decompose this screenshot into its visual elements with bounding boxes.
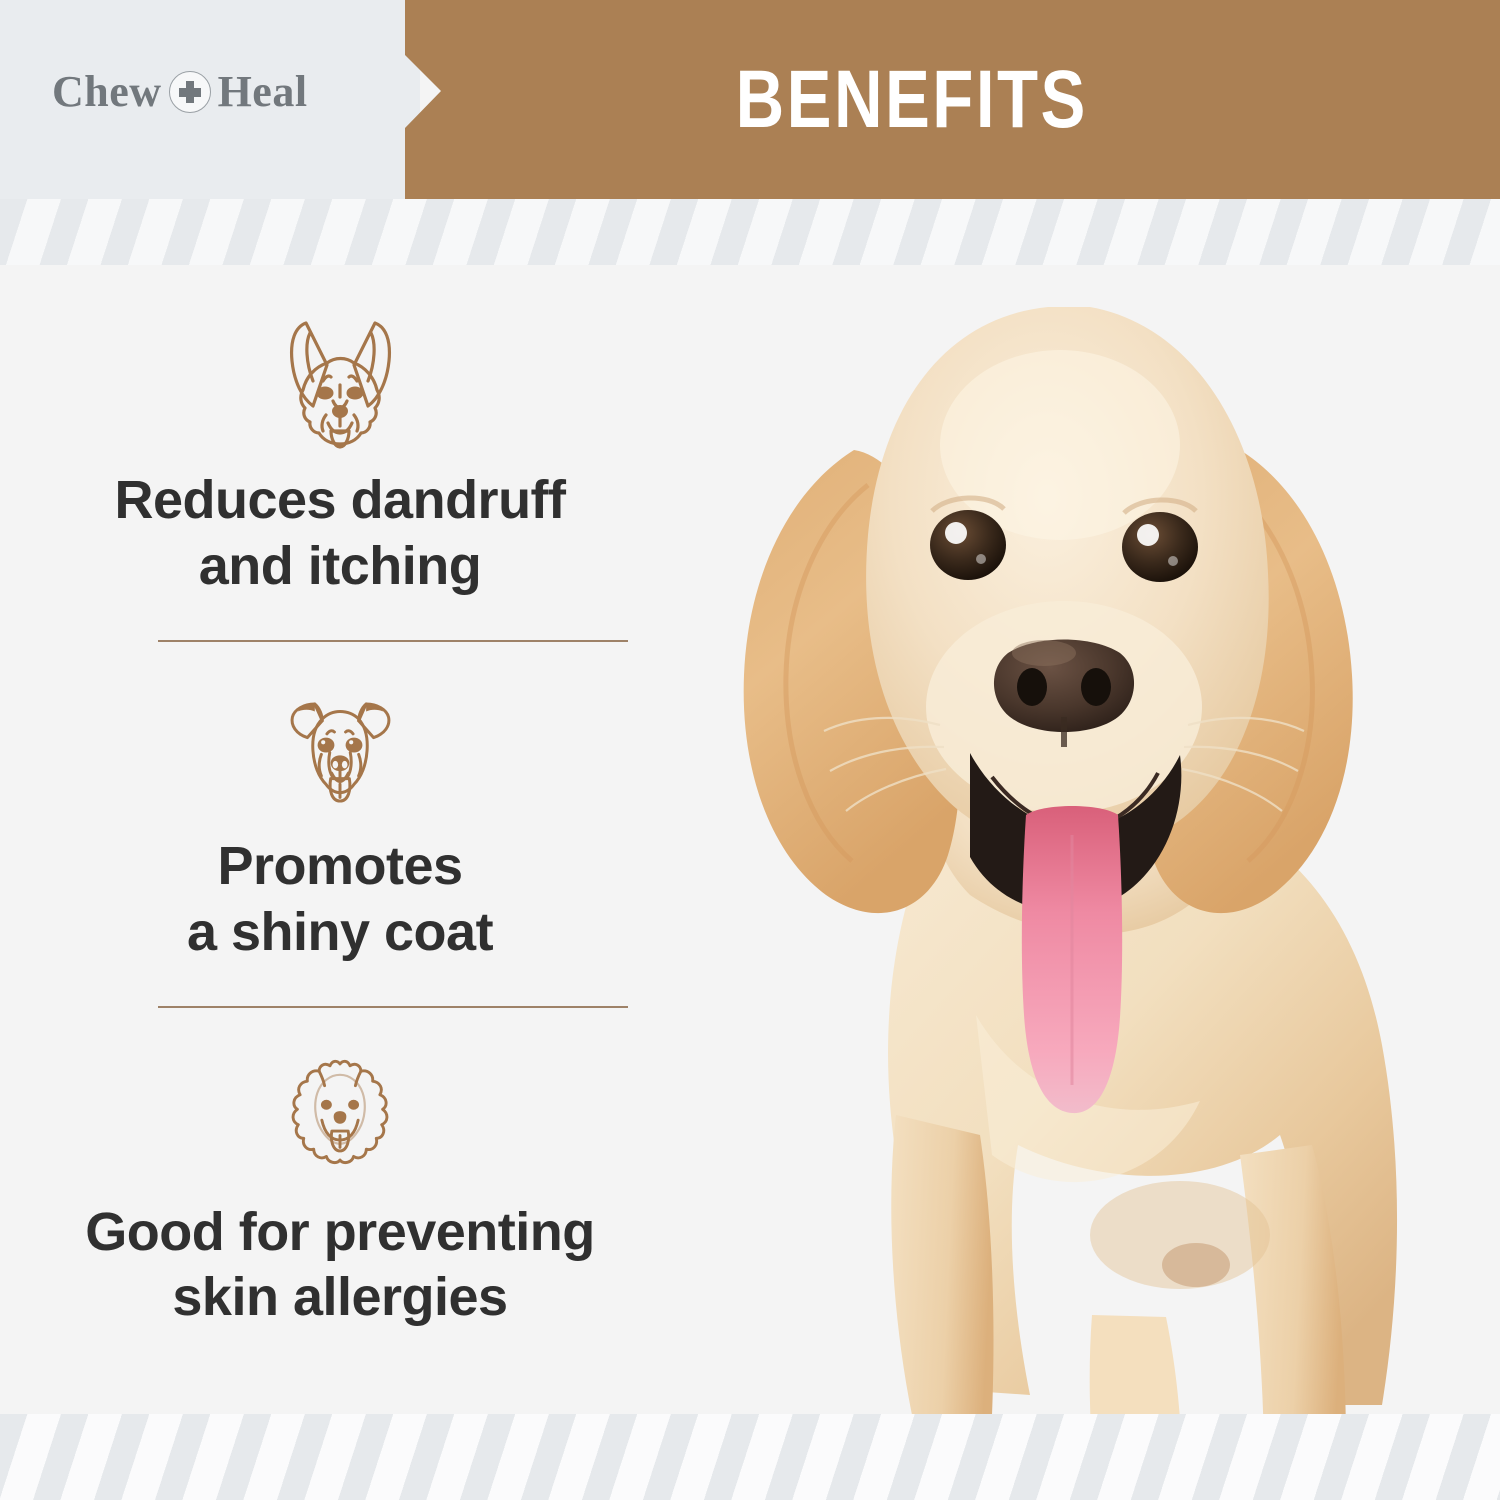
benefit-divider-wrap [0, 966, 680, 1032]
logo-word-heal: Heal [218, 70, 308, 114]
brand-logo: Chew Heal [52, 70, 308, 114]
logo-word-chew: Chew [52, 70, 162, 114]
top-diagonal-stripe-band [0, 199, 1500, 265]
infographic-page: Chew Heal BENEFITS [0, 0, 1500, 1500]
benefit-line-2: skin allergies [85, 1265, 595, 1331]
benefit-item: Good for preventing skin allergies [0, 1032, 680, 1332]
benefit-item: Promotes a shiny coat [0, 666, 680, 966]
benefit-label: Good for preventing skin allergies [85, 1200, 595, 1332]
fluffy-dog-face-icon [255, 1032, 425, 1192]
benefit-label: Reduces dandruff and itching [114, 468, 565, 600]
benefit-line-2: a shiny coat [187, 900, 493, 966]
page-header: Chew Heal BENEFITS [0, 0, 1500, 199]
bottom-diagonal-stripe-band [0, 1414, 1500, 1500]
benefits-list: Reduces dandruff and itching [0, 300, 680, 1331]
page-title: BENEFITS [735, 59, 1169, 141]
labrador-puppy-photo [640, 255, 1500, 1455]
logo-zone: Chew Heal [0, 0, 420, 199]
benefit-item: Reduces dandruff and itching [0, 300, 680, 600]
medical-cross-icon [169, 71, 211, 113]
corgi-dog-face-icon [255, 300, 425, 460]
divider [158, 640, 628, 642]
terrier-dog-face-icon [255, 666, 425, 826]
benefit-label: Promotes a shiny coat [187, 834, 493, 966]
benefit-divider-wrap [0, 600, 680, 666]
divider [158, 1006, 628, 1008]
benefits-banner: BENEFITS [405, 0, 1500, 199]
benefit-line-1: Good for preventing [85, 1200, 595, 1266]
benefit-line-1: Promotes [187, 834, 493, 900]
benefit-line-1: Reduces dandruff [114, 468, 565, 534]
benefit-line-2: and itching [114, 534, 565, 600]
